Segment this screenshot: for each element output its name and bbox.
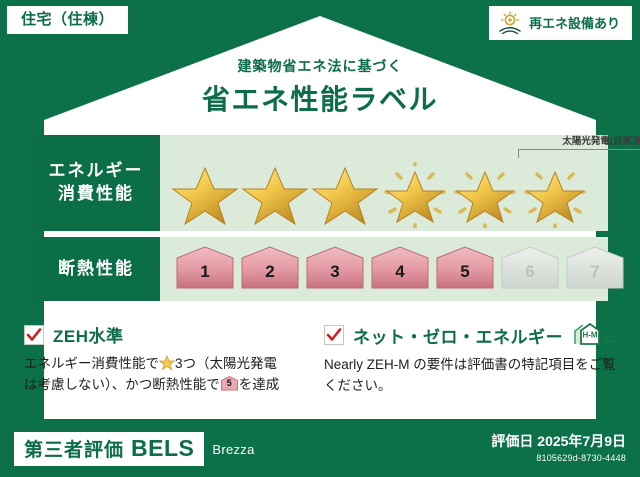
inline-star-icon — [159, 355, 175, 371]
evaluation-date-value: 2025年7月9日 — [537, 433, 626, 449]
star-5-solar — [450, 162, 520, 228]
energy-performance-label: 住宅（住棟） 再エネ設備あり 建築物省エネ法に基づく 省エネ性能ラベル — [0, 0, 640, 477]
evaluation-footer: 評価日 2025年7月9日 8105629d-8730-4448 — [491, 433, 626, 465]
zeh-m-logo-icon: H-M Nearly ZEH-M — [572, 322, 618, 348]
svg-text:H-M: H-M — [582, 331, 597, 340]
bels-badge: 第三者評価 BELS — [14, 432, 204, 466]
svg-text:ZEH-M: ZEH-M — [603, 339, 617, 344]
insulation-grade-6: 6 — [499, 244, 561, 294]
energy-performance-panel: 太陽光発電(自家消費)分 — [160, 135, 608, 231]
zeh-body-starcount: 3つ（太陽光発電 — [175, 356, 277, 371]
brand-name: Brezza — [212, 442, 254, 457]
insulation-row-label: 断熱性能 — [32, 237, 160, 301]
insulation-grade-scale: 1 2 3 4 — [160, 237, 608, 301]
net-zero-energy-title: ネット・ゼロ・エネルギー — [353, 323, 563, 348]
star-1 — [170, 162, 240, 228]
net-zero-energy-section: ネット・ゼロ・エネルギー H-M Nearly ZEH-M Nearly ZEH… — [324, 322, 624, 397]
insulation-label-text: 断熱性能 — [58, 258, 134, 281]
evaluation-date: 評価日 2025年7月9日 — [491, 433, 626, 450]
insulation-grade-3: 3 — [304, 244, 366, 294]
zeh-standard-title: ZEH水準 — [53, 322, 124, 347]
net-zero-energy-body: Nearly ZEH-M の要件は評価書の特記項目をご覧ください。 — [324, 355, 624, 397]
star-4-solar — [380, 162, 450, 228]
sun-solar-icon — [497, 11, 523, 35]
zeh-body-part2: は考慮しない）、かつ断熱性能で — [24, 377, 220, 392]
label-subtitle: 建築物省エネ法に基づく — [0, 56, 640, 76]
bels-jp-label: 第三者評価 — [24, 441, 124, 460]
energy-label-line1: エネルギー — [49, 160, 144, 183]
net-zero-energy-header: ネット・ゼロ・エネルギー H-M Nearly ZEH-M — [324, 322, 624, 348]
insulation-grade-7: 7 — [564, 244, 626, 294]
zeh-body-part1: エネルギー消費性能で — [24, 356, 159, 371]
star-3 — [310, 162, 380, 228]
solar-annotation: 太陽光発電(自家消費)分 — [518, 137, 640, 158]
energy-performance-row-label: エネルギー 消費性能 — [32, 135, 160, 231]
solar-bracket — [518, 149, 640, 158]
insulation-grade-3-value: 3 — [304, 263, 366, 280]
inline-house-badge-icon: 5 — [220, 375, 239, 392]
energy-label-line2: 消費性能 — [58, 183, 134, 206]
insulation-grade-5-value: 5 — [434, 263, 496, 280]
bels-footer: 第三者評価 BELS Brezza — [14, 432, 255, 466]
label-title: 省エネ性能ラベル — [0, 78, 640, 118]
zeh-standard-section: ZEH水準 エネルギー消費性能で3つ（太陽光発電 は考慮しない）、かつ断熱性能で… — [24, 322, 314, 396]
zeh-body-part3: を達成 — [239, 377, 280, 392]
star-rating — [160, 161, 608, 229]
solar-annotation-caption: 太陽光発電(自家消費)分 — [518, 137, 640, 147]
insulation-grade-4-value: 4 — [369, 263, 431, 280]
building-type-label: 住宅（住棟） — [21, 11, 114, 28]
evaluation-id: 8105629d-8730-4448 — [491, 452, 626, 465]
zeh-standard-body: エネルギー消費性能で3つ（太陽光発電 は考慮しない）、かつ断熱性能で5を達成 — [24, 354, 314, 396]
insulation-grade-1-value: 1 — [174, 263, 236, 280]
star-6-solar — [520, 162, 590, 228]
insulation-panel: 1 2 3 4 — [160, 237, 608, 301]
insulation-grade-6-value: 6 — [499, 263, 561, 280]
building-type-chip: 住宅（住棟） — [7, 6, 128, 34]
renewable-equipment-label: 再エネ設備あり — [529, 17, 620, 30]
insulation-grade-2: 2 — [239, 244, 301, 294]
insulation-grade-5: 5 — [434, 244, 496, 294]
energy-performance-row: エネルギー 消費性能 太陽光発電(自家消費)分 — [32, 135, 608, 231]
inline-house-badge-value: 5 — [220, 379, 239, 388]
insulation-grade-7-value: 7 — [564, 263, 626, 280]
zeh-check-icon — [24, 325, 44, 345]
bels-en-label: BELS — [131, 437, 194, 460]
insulation-grade-1: 1 — [174, 244, 236, 294]
insulation-grade-2-value: 2 — [239, 263, 301, 280]
zeh-standard-header: ZEH水準 — [24, 322, 314, 347]
net-zero-check-icon — [324, 325, 344, 345]
insulation-grade-4: 4 — [369, 244, 431, 294]
evaluation-date-label: 評価日 — [491, 433, 533, 449]
insulation-performance-row: 断熱性能 1 — [32, 237, 608, 301]
renewable-equipment-chip: 再エネ設備あり — [489, 6, 632, 40]
star-2 — [240, 162, 310, 228]
